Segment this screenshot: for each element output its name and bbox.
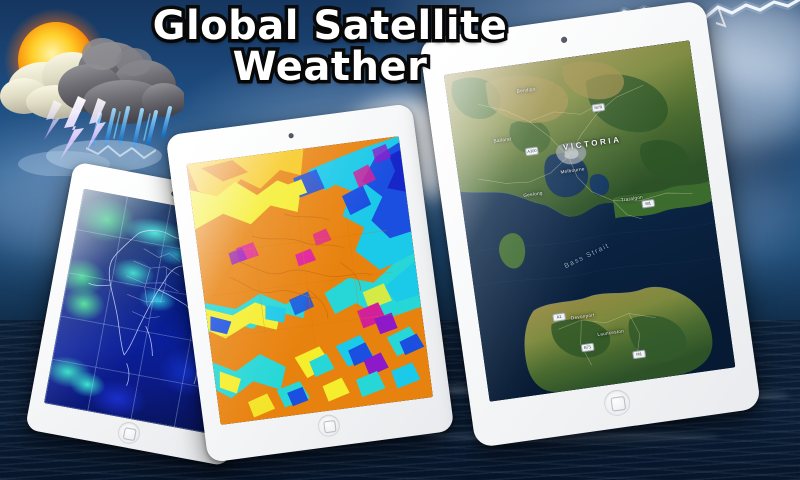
title-line-1: Global Satellite	[153, 6, 508, 47]
front-camera-icon	[288, 133, 294, 139]
tablet-center[interactable]	[166, 103, 455, 463]
home-button[interactable]	[316, 413, 341, 438]
promo-banner: Global Satellite Weather	[0, 0, 800, 480]
tablet-center-screen[interactable]	[186, 136, 432, 425]
ir-temperature-field	[186, 136, 432, 425]
title-line-2: Weather	[140, 47, 520, 88]
infrared-temperature-satellite-map	[186, 136, 432, 425]
victoria-satellite-terrain-map: VICTORIA Bass Strait Bendigo Ballarat Me…	[444, 40, 736, 401]
tablet-right-screen[interactable]: VICTORIA Bass Strait Bendigo Ballarat Me…	[444, 40, 736, 401]
page-title: Global Satellite Weather	[140, 6, 520, 88]
home-button[interactable]	[116, 420, 142, 446]
home-button[interactable]	[602, 388, 631, 417]
front-camera-icon	[561, 36, 568, 43]
